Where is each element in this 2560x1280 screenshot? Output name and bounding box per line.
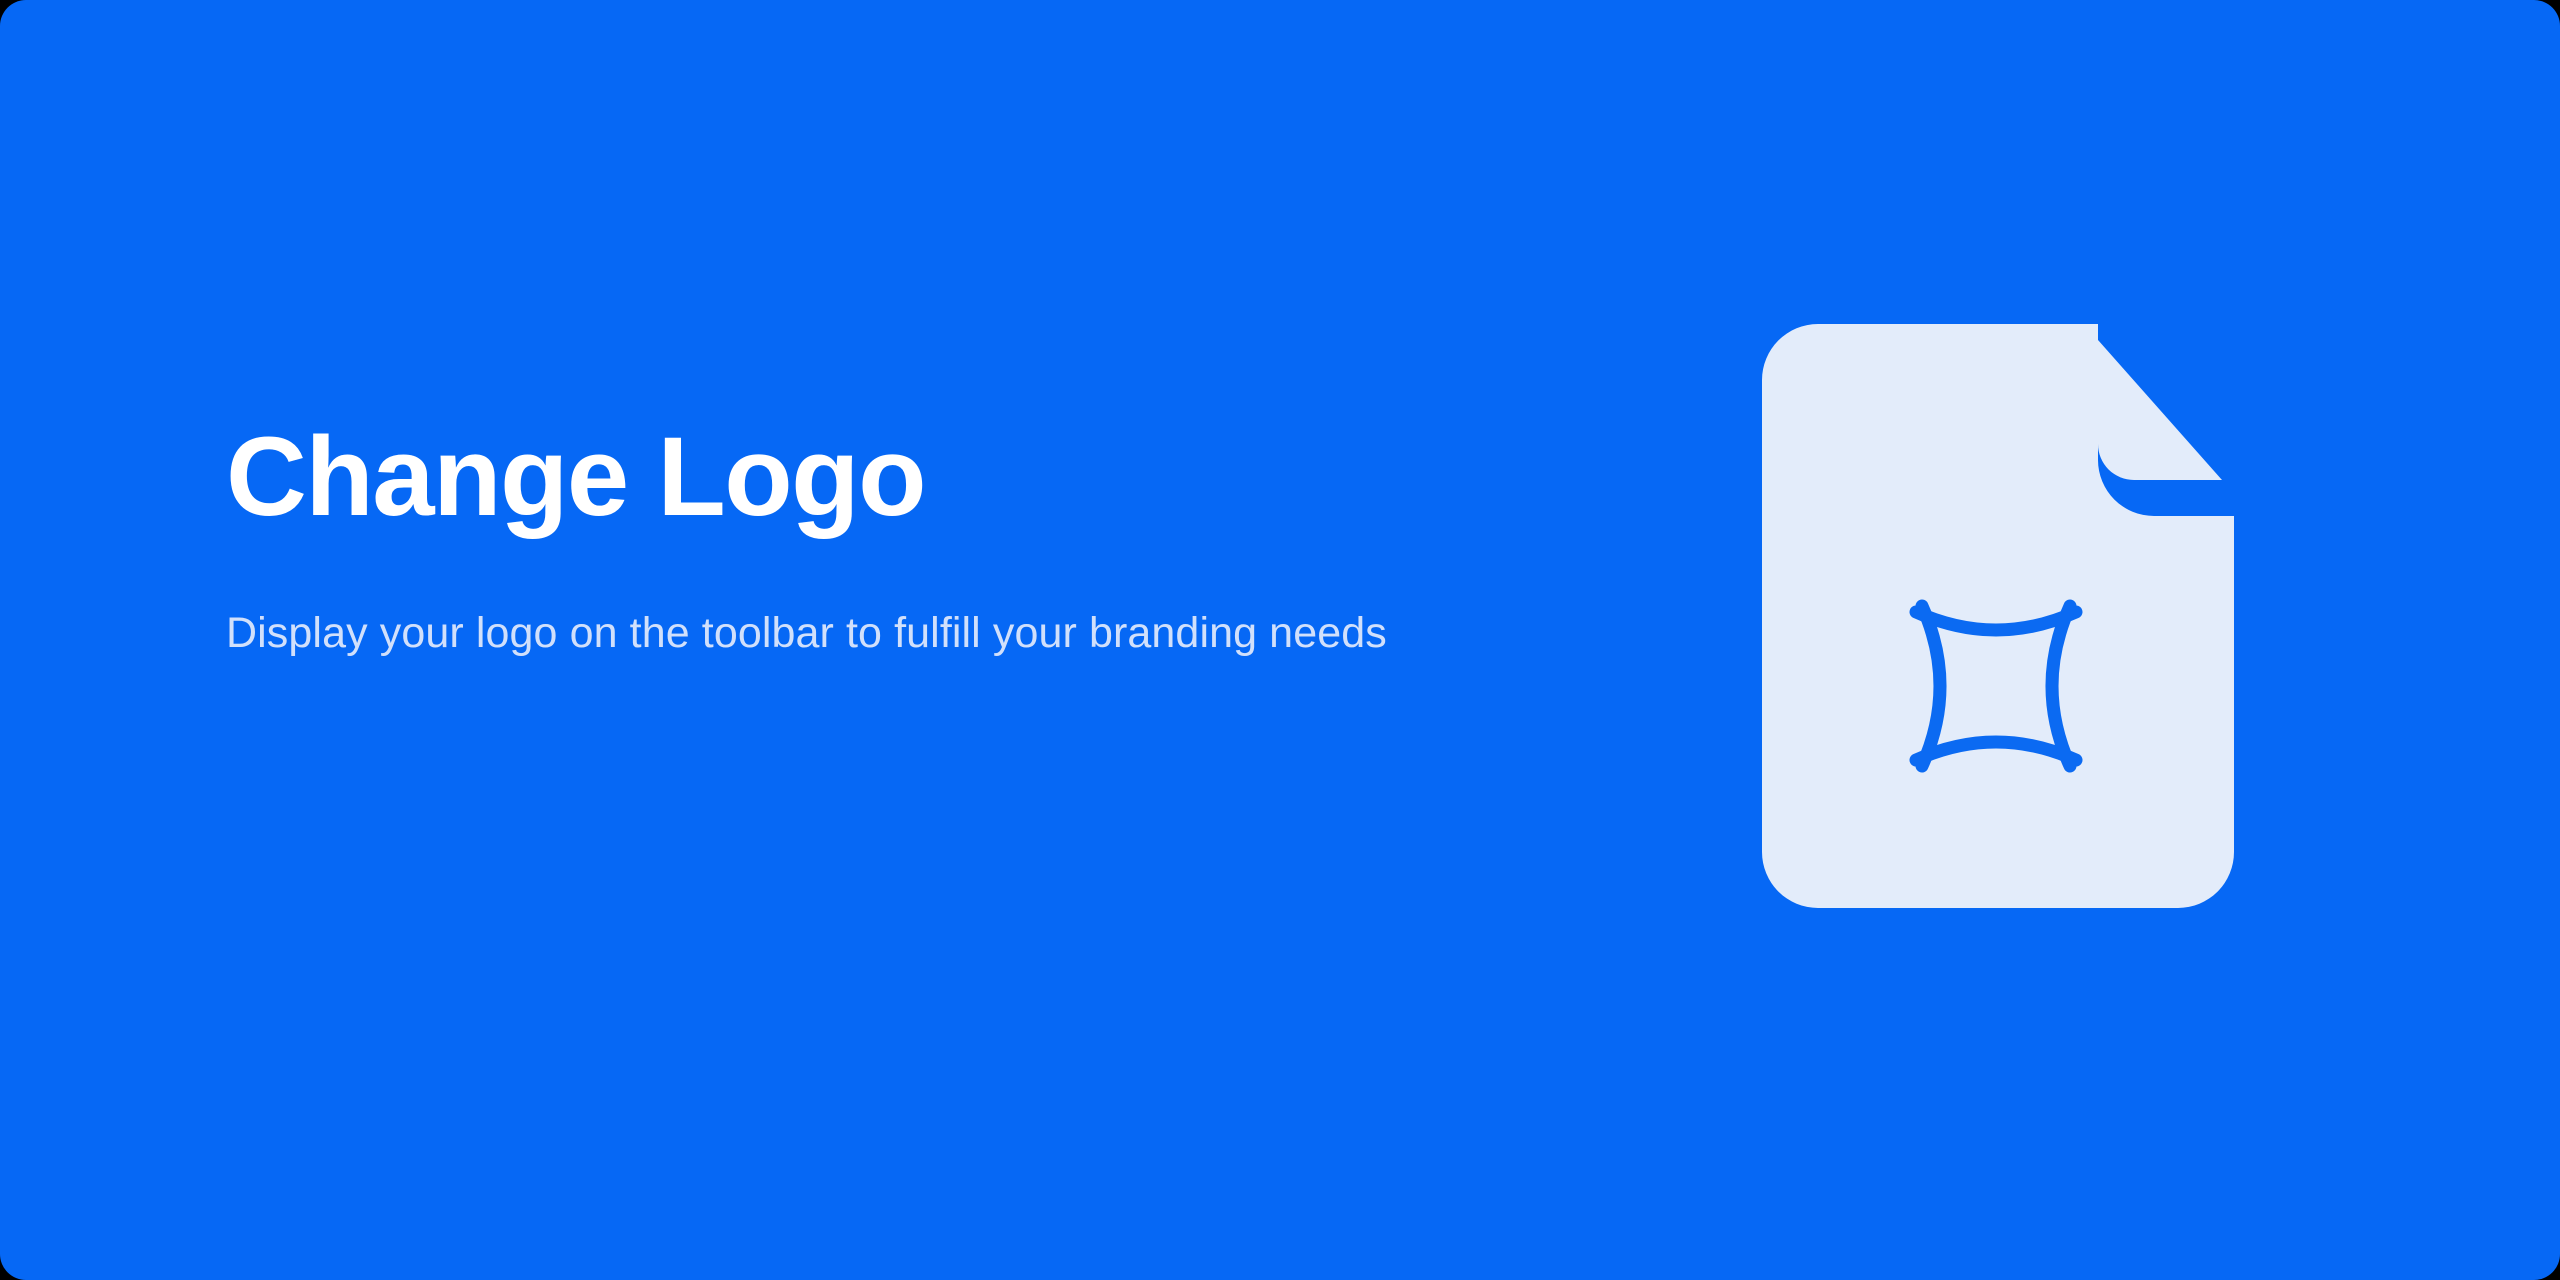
change-logo-promo-card: Change Logo Display your logo on the too… [0, 0, 2560, 1280]
document-illustration [1750, 312, 2250, 928]
page-subtitle: Display your logo on the toolbar to fulf… [226, 537, 1456, 675]
promo-copy-block: Change Logo Display your logo on the too… [226, 418, 1606, 675]
screenshot-stage: Change Logo Display your logo on the too… [0, 0, 2560, 1280]
document-page-body [1762, 324, 2234, 908]
page-title: Change Logo [226, 418, 1606, 537]
document-fold-corner-icon [2098, 340, 2222, 480]
